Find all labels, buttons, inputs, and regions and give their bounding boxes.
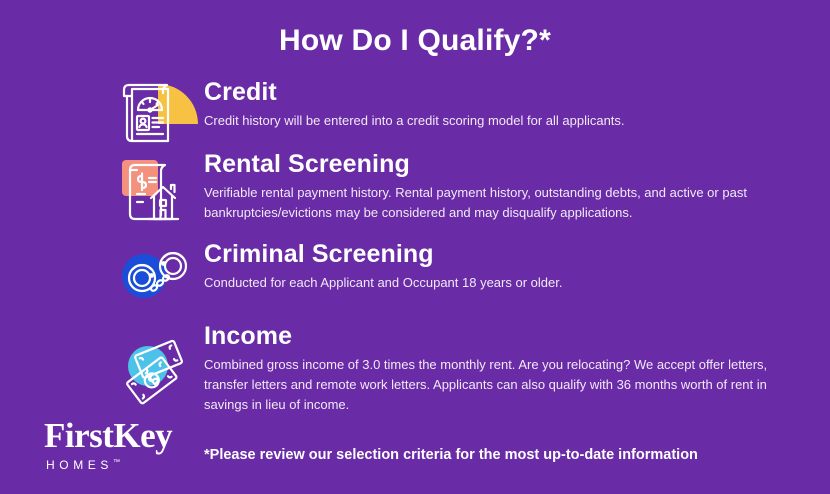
cash-money-icon xyxy=(118,340,196,412)
qualify-slide: How Do I Qualify?* xyxy=(0,0,830,494)
firstkey-homes-logo: FirstKey HOMES™ xyxy=(44,418,204,480)
criteria-heading: Credit xyxy=(204,78,804,106)
selection-criteria-note: *Please review our selection criteria fo… xyxy=(204,447,698,463)
criteria-heading: Rental Screening xyxy=(204,150,804,178)
trademark-symbol: ™ xyxy=(113,459,120,466)
criteria-body-income: Income Combined gross income of 3.0 time… xyxy=(204,322,804,415)
criteria-heading: Criminal Screening xyxy=(204,240,804,268)
credit-report-icon xyxy=(114,80,192,152)
rent-receipt-house-icon xyxy=(118,158,196,230)
criteria-text: Combined gross income of 3.0 times the m… xyxy=(204,355,804,415)
page-title: How Do I Qualify?* xyxy=(0,24,830,58)
logo-subtitle-text: HOMES xyxy=(46,458,113,472)
logo-wordmark: FirstKey xyxy=(44,418,204,454)
handcuffs-icon xyxy=(118,244,196,316)
criteria-body-criminal-screening: Criminal Screening Conducted for each Ap… xyxy=(204,240,804,293)
criteria-body-rental-screening: Rental Screening Verifiable rental payme… xyxy=(204,150,804,223)
criteria-heading: Income xyxy=(204,322,804,350)
criteria-text: Verifiable rental payment history. Renta… xyxy=(204,183,804,223)
criteria-body-credit: Credit Credit history will be entered in… xyxy=(204,78,804,131)
logo-subtitle: HOMES™ xyxy=(44,458,204,472)
criteria-text: Credit history will be entered into a cr… xyxy=(204,111,804,131)
criteria-text: Conducted for each Applicant and Occupan… xyxy=(204,273,804,293)
